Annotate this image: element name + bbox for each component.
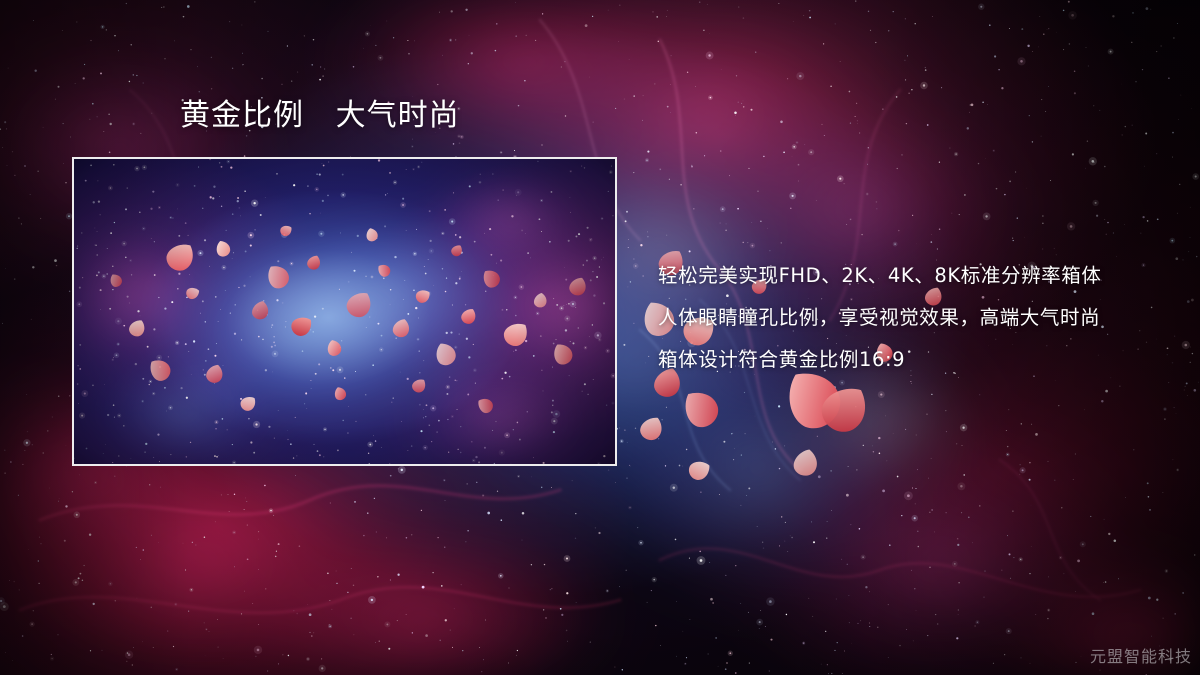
preview-nebula-background (74, 159, 615, 464)
preview-image-content (74, 159, 615, 464)
body-line-1: 轻松完美实现FHD、2K、4K、8K标准分辨率箱体 (658, 255, 1178, 297)
presentation-slide: 黄金比例 大气时尚 轻松完美实现FHD、2K、4K、8K标准分辨率箱体 人体眼睛… (0, 0, 1200, 675)
preview-vignette (74, 159, 615, 464)
watermark: 元盟智能科技 (1090, 643, 1192, 667)
body-line-2: 人体眼睛瞳孔比例，享受视觉效果，高端大气时尚 (658, 297, 1178, 339)
preview-starfield-layer (74, 159, 615, 464)
page-title: 黄金比例 大气时尚 (180, 101, 460, 131)
body-text-block: 轻松完美实现FHD、2K、4K、8K标准分辨率箱体 人体眼睛瞳孔比例，享受视觉效… (658, 255, 1178, 381)
body-line-3: 箱体设计符合黄金比例16:9 (658, 339, 1178, 381)
preview-cloud-layer (74, 159, 615, 464)
framed-preview-image (72, 157, 617, 466)
preview-petals-layer (74, 159, 615, 464)
